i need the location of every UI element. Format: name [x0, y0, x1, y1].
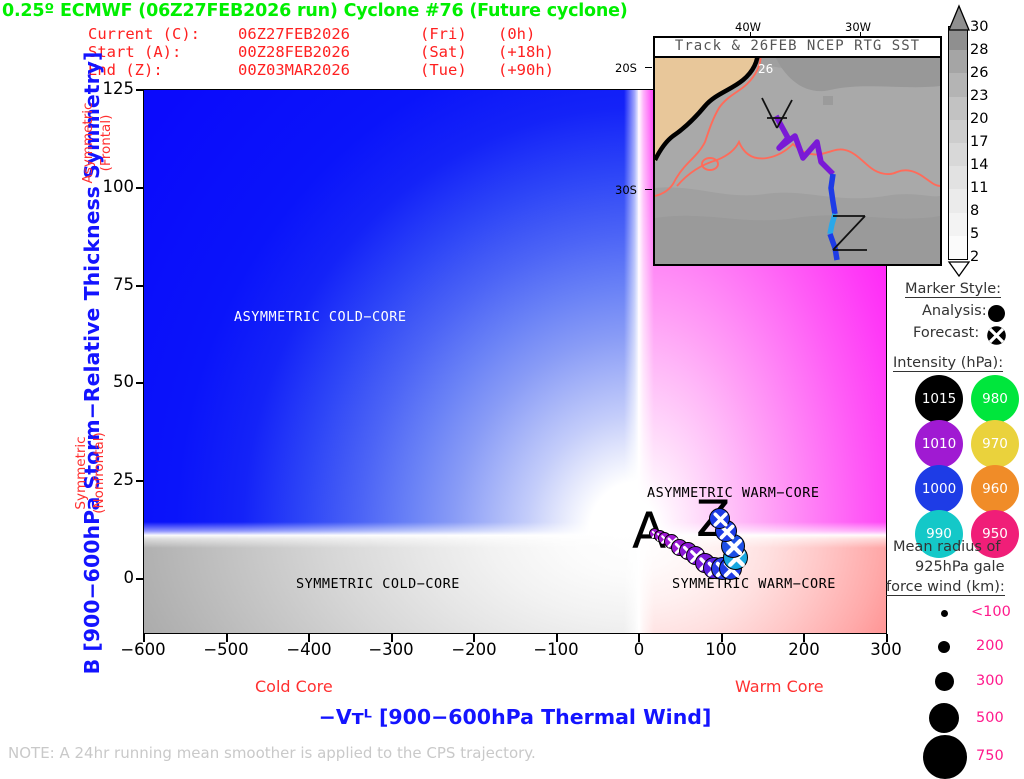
x-tick-m200: −200 — [439, 640, 509, 659]
inset-lat-tick-20S — [645, 67, 652, 68]
current-day: (Fri) — [420, 25, 498, 43]
x-tick-200: 200 — [769, 640, 839, 659]
y-upper-line1: Asymmetric — [80, 103, 96, 184]
footer-note: NOTE: A 24hr running mean smoother is ap… — [8, 744, 536, 762]
x-tickmark-300 — [886, 634, 888, 642]
size-dot-200 — [938, 641, 950, 653]
y-tick-125: 125 — [92, 79, 134, 98]
inset-lat-label-20S: 20S — [615, 61, 637, 75]
forecast-x-icon — [710, 509, 731, 530]
forecast-marker-icon — [987, 326, 1006, 345]
intensity-bubble-1015: 1015 — [915, 375, 963, 423]
current-label: Current (C): — [88, 25, 238, 43]
legend-analysis-label: Analysis: — [922, 303, 987, 319]
y-tick-0: 0 — [92, 568, 134, 587]
size-label-750: 750 — [976, 748, 1004, 764]
start-fhr: (+18h) — [498, 43, 554, 61]
inset-lat-label-30S: 30S — [615, 183, 637, 197]
x-tick-100: 100 — [686, 640, 756, 659]
colorbar-label-28: 28 — [970, 42, 988, 58]
y-lower-regime-label: Symmetric — [73, 378, 89, 568]
colorbar-label-26: 26 — [970, 65, 988, 81]
x-tick-m400: −400 — [274, 640, 344, 659]
intensity-bubble-980: 980 — [971, 375, 1019, 423]
size-dot-lt100 — [941, 610, 948, 617]
x-tickmark-0 — [638, 634, 640, 642]
run-info-end: End (Z):00Z03MAR2026(Tue)(+90h) — [88, 61, 554, 79]
analysis-marker-icon — [988, 305, 1005, 322]
colorbar-label-17: 17 — [970, 134, 988, 150]
colorbar-label-23: 23 — [970, 88, 988, 104]
x-tickmark-200 — [803, 634, 805, 642]
y-tick-50: 50 — [92, 372, 134, 391]
legend-intensity-title: Intensity (hPa): — [893, 355, 1003, 372]
x-tick-m100: −100 — [521, 640, 591, 659]
run-info-current: Current (C):06Z27FEB2026(Fri)(0h) — [88, 25, 535, 43]
intensity-bubble-1000: 1000 — [915, 465, 963, 513]
x-axis-warm-core-label: Warm Core — [735, 677, 824, 696]
inset-lon-label-40W: 40W — [735, 20, 761, 34]
colorbar-arrow-caps — [946, 4, 972, 278]
start-day: (Sat) — [420, 43, 498, 61]
colorbar-label-2: 2 — [970, 249, 979, 265]
y-lower-line1: Symmetric — [73, 436, 89, 509]
x-tickmark-m200 — [473, 634, 475, 642]
y-tick-100: 100 — [92, 177, 134, 196]
x-tickmark-m300 — [391, 634, 393, 642]
current-time: 06Z27FEB2026 — [238, 25, 420, 43]
x-tick-0: 0 — [604, 640, 674, 659]
size-dot-750 — [923, 735, 967, 779]
legend-size-title-line1: Mean radius of — [893, 539, 1001, 555]
run-info-start: Start (A):00Z28FEB2026(Sat)(+18h) — [88, 43, 554, 61]
size-label-lt100: <100 — [971, 604, 1011, 620]
x-tickmark-m400 — [308, 634, 310, 642]
colorbar-label-20: 20 — [970, 111, 988, 127]
colorbar-label-8: 8 — [970, 203, 979, 219]
colorbar-label-30: 30 — [970, 19, 988, 35]
legend-marker-style-title: Marker Style: — [905, 281, 1001, 298]
current-fhr: (0h) — [498, 25, 535, 43]
size-label-200: 200 — [976, 638, 1004, 654]
intensity-bubble-970: 970 — [971, 420, 1019, 468]
colorbar-label-14: 14 — [970, 157, 988, 173]
x-tickmark-100 — [721, 634, 723, 642]
end-time: 00Z03MAR2026 — [238, 61, 420, 79]
y-tick-25: 25 — [92, 470, 134, 489]
inset-map-title-text: Track & 26FEB NCEP RTG SST — [675, 38, 920, 54]
size-dot-300 — [935, 672, 954, 691]
intensity-bubble-960: 960 — [971, 465, 1019, 513]
x-tickmark-m600 — [143, 634, 145, 642]
y-upper-line2: (Frontal) — [98, 115, 114, 172]
end-day: (Tue) — [420, 61, 498, 79]
colorbar-label-5: 5 — [970, 226, 979, 242]
x-tick-300: 300 — [851, 640, 921, 659]
x-tick-m600: −600 — [108, 640, 178, 659]
x-tickmark-m100 — [556, 634, 558, 642]
x-axis-cold-core-label: Cold Core — [255, 677, 333, 696]
legend-size-title-line2: 925hPa gale — [915, 559, 1005, 575]
legend-size-title-line3: force wind (km): — [886, 579, 1005, 596]
size-dot-500 — [929, 703, 959, 733]
start-time: 00Z28FEB2026 — [238, 43, 420, 61]
x-tickmark-m500 — [226, 634, 228, 642]
inset-lon-label-30W: 30W — [845, 20, 871, 34]
y-tick-75: 75 — [92, 275, 134, 294]
size-label-300: 300 — [976, 673, 1004, 689]
trajectory-point[interactable] — [709, 508, 730, 529]
legend-forecast-label: Forecast: — [913, 325, 979, 341]
inset-lat-tick-30S — [645, 189, 652, 190]
x-axis-title: −Vᴛᴸ [900−600hPa Thermal Wind] — [143, 705, 887, 729]
x-tick-m500: −500 — [191, 640, 261, 659]
inset-map-title: Track & 26FEB NCEP RTG SST — [653, 36, 942, 58]
x-axis-title-text: −Vᴛᴸ [900−600hPa Thermal Wind] — [319, 705, 712, 729]
x-tick-m300: −300 — [356, 640, 426, 659]
end-fhr: (+90h) — [498, 61, 554, 79]
colorbar-label-11: 11 — [970, 180, 988, 196]
size-label-500: 500 — [976, 710, 1004, 726]
inset-track-map[interactable]: 26 — [653, 36, 942, 266]
intensity-bubble-1010: 1010 — [915, 420, 963, 468]
